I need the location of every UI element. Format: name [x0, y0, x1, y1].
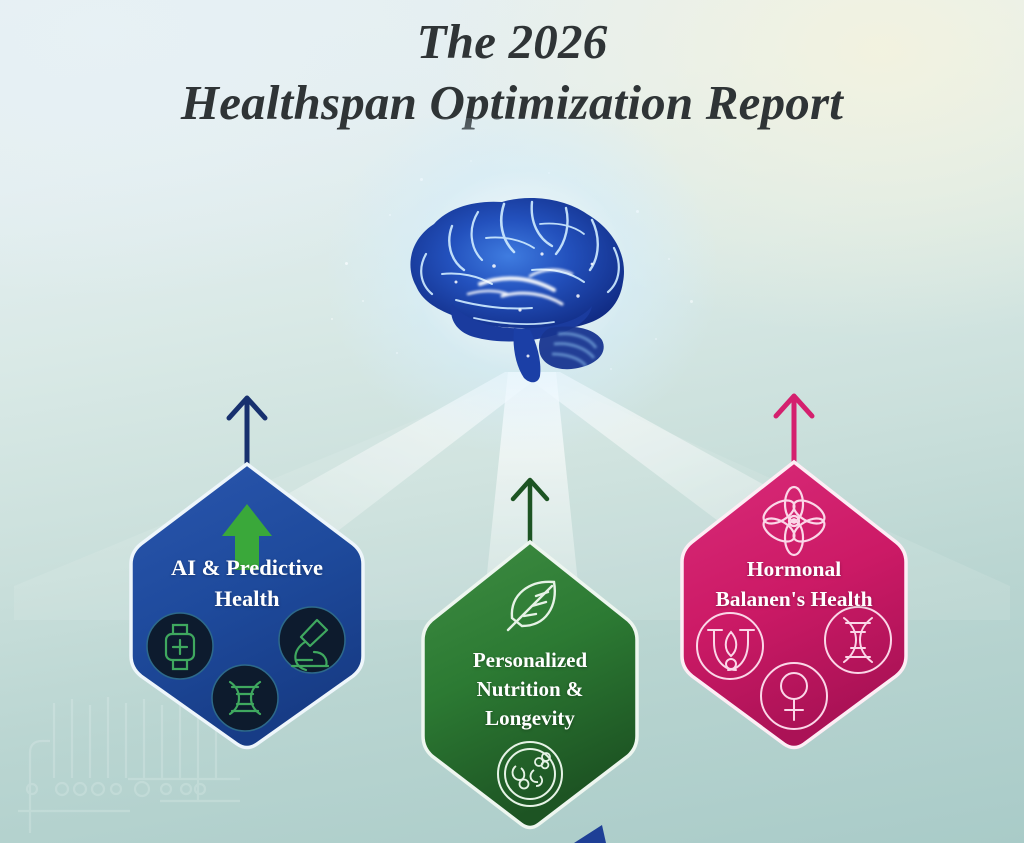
- title-line-2: Healthspan Optimization Report: [0, 72, 1024, 134]
- title-line-1: The 2026: [0, 12, 1024, 72]
- pillar-hormonal-health[interactable]: Hormonal Balanen's Health: [672, 384, 916, 760]
- pillar-personalized-nutrition-longevity[interactable]: Personalized Nutrition & Longevity: [412, 468, 648, 843]
- pillar-nutrition-up-arrow-icon: [513, 480, 547, 546]
- pillar-nutrition-graphic: [412, 468, 648, 843]
- brain-illustration: [382, 178, 662, 393]
- poster-title: The 2026 Healthspan Optimization Report: [0, 12, 1024, 134]
- pillar-ai-predictive-health[interactable]: AI & Predictive Health: [120, 384, 374, 760]
- blue-triangle-marker: [572, 821, 606, 843]
- infographic-poster: The 2026 Healthspan Optimization Report: [0, 0, 1024, 843]
- pillar-ai-graphic: [120, 384, 374, 760]
- pillar-hormonal-up-arrow-icon: [776, 396, 812, 468]
- pillar-ai-microscope-icon: [279, 607, 345, 673]
- pillar-ai-smartwatch-health-icon: [147, 613, 213, 679]
- pillar-ai-up-arrow-icon: [229, 398, 265, 470]
- pillar-ai-dna-helix-icon: [212, 665, 278, 731]
- pillar-hormonal-graphic: [672, 384, 916, 760]
